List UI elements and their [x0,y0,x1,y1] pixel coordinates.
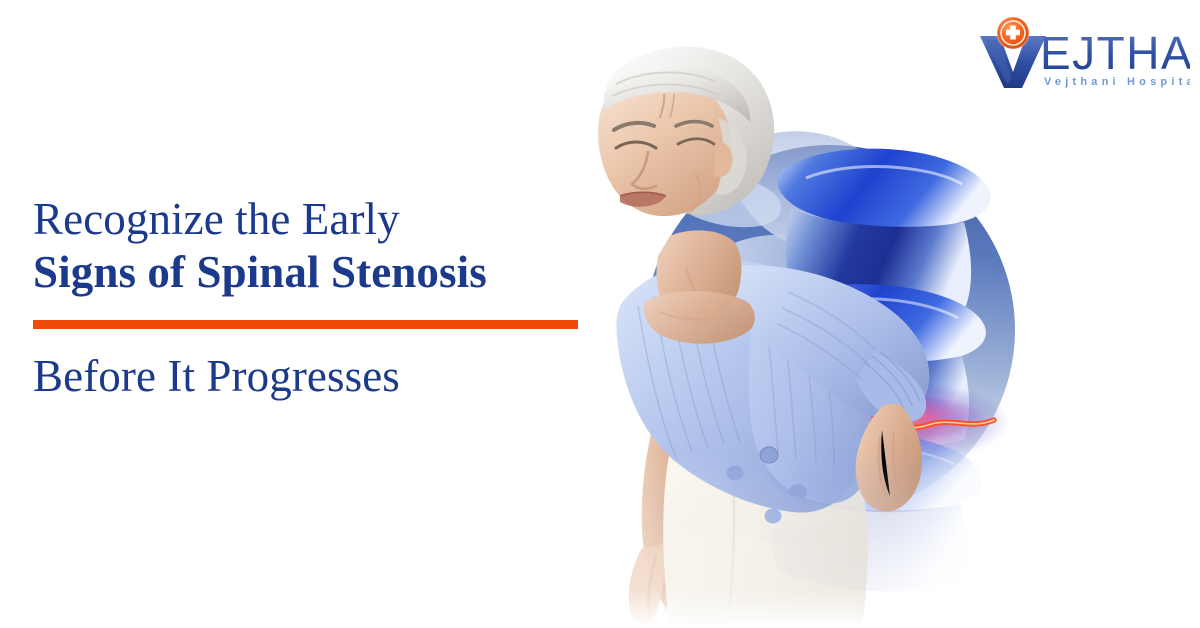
svg-text:EJTHANI: EJTHANI [1040,27,1190,79]
headline-divider-rule [33,320,578,329]
banner-root: Recognize the Early Signs of Spinal Sten… [0,0,1200,628]
headline-line-3: Before It Progresses [33,353,633,400]
svg-text:Vejthani Hospital: Vejthani Hospital [1044,76,1190,88]
headline-line-1: Recognize the Early [33,196,633,243]
vejthani-logo[interactable]: EJTHANI Vejthani Hospital [974,14,1190,92]
logo-tagline: Vejthani Hospital [1044,76,1190,88]
headline-block: Recognize the Early Signs of Spinal Sten… [33,196,633,400]
vejthani-logo-svg: EJTHANI Vejthani Hospital [974,14,1190,92]
medical-cross-circle-icon [997,17,1029,49]
headline-line-2: Signs of Spinal Stenosis [33,247,633,297]
logo-wordmark: EJTHANI [1040,27,1190,79]
